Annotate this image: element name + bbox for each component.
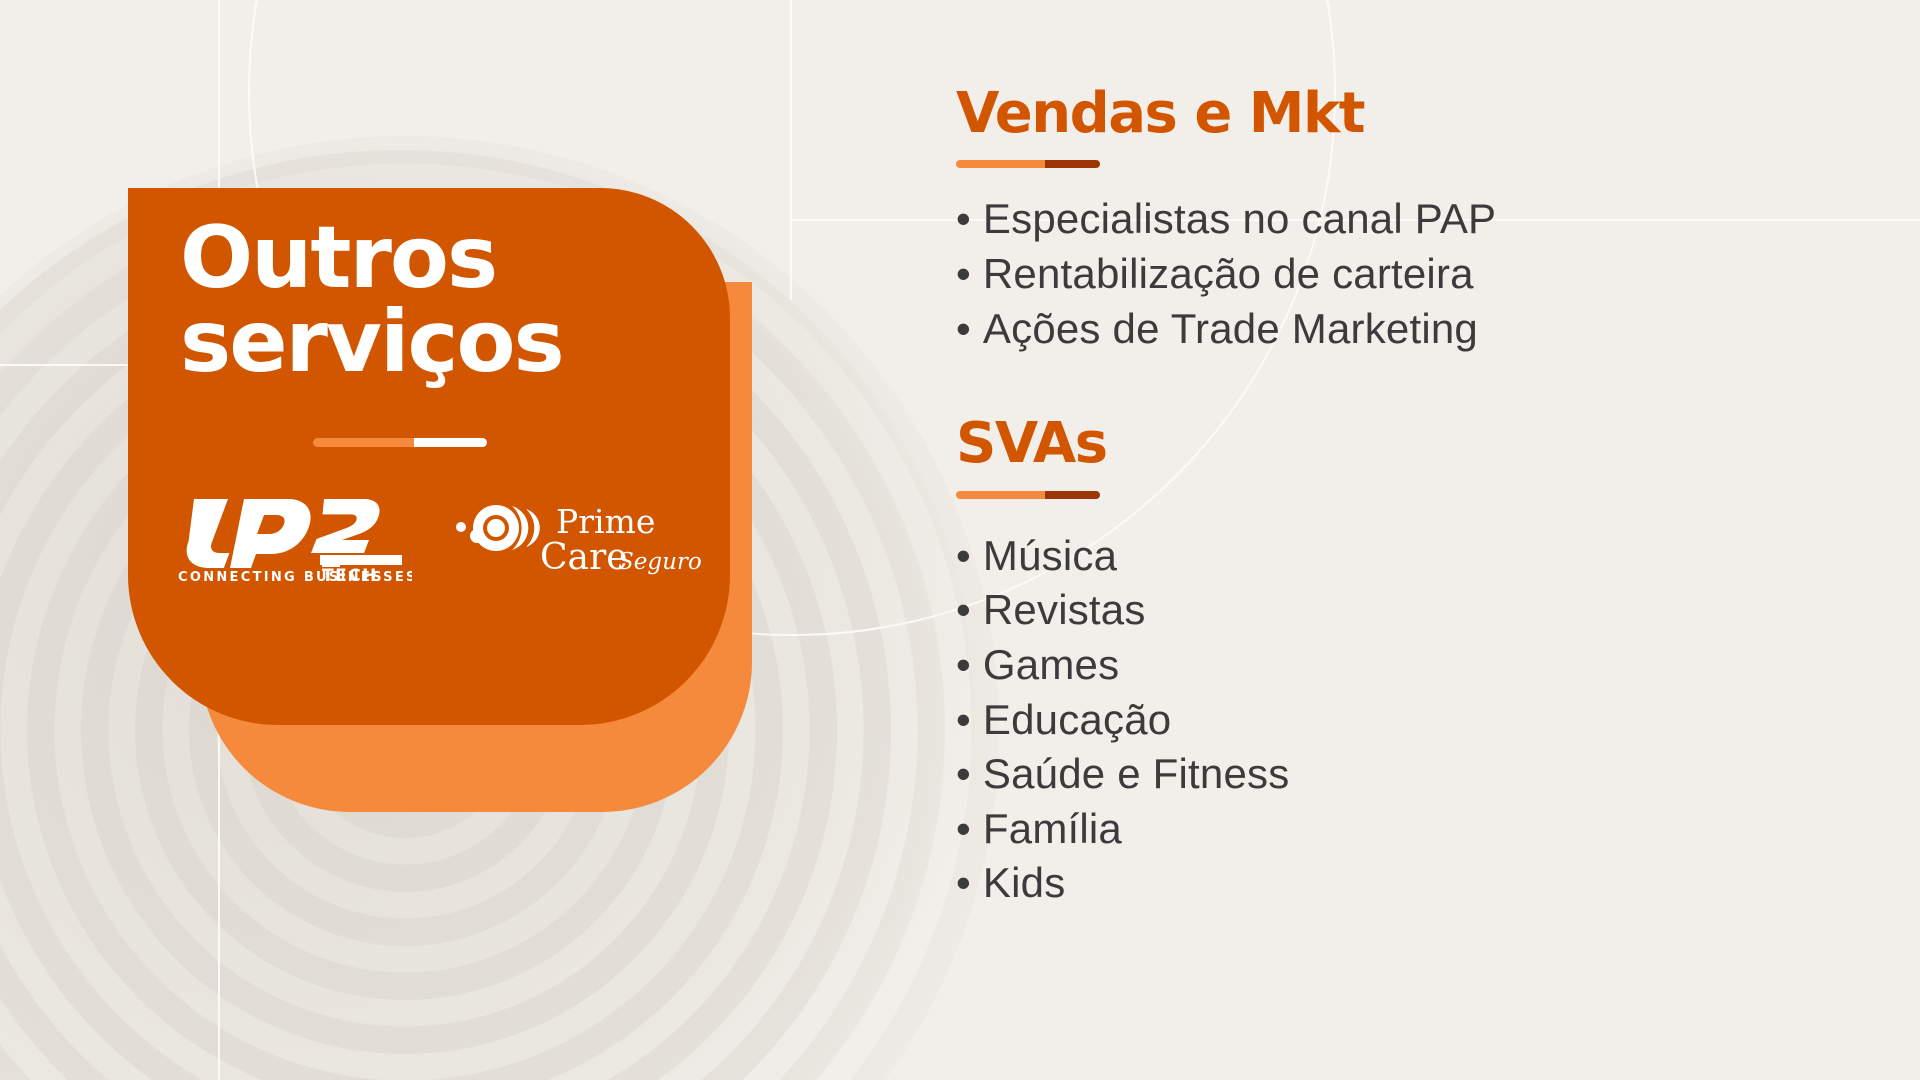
list-item-label: Saúde e Fitness bbox=[983, 750, 1290, 797]
list-item-label: Games bbox=[983, 641, 1119, 688]
list-item: •Ações de Trade Marketing bbox=[956, 302, 1836, 357]
services-card: Outros serviços TECH CONNECTING BUSINESS… bbox=[128, 188, 730, 725]
list-item-label: Música bbox=[983, 532, 1117, 579]
list-item-label: Família bbox=[983, 805, 1122, 852]
section-vendas: Vendas e Mkt •Especialistas no canal PAP… bbox=[956, 84, 1836, 356]
bullet-dot-icon: • bbox=[956, 638, 971, 693]
list-item: •Família bbox=[956, 802, 1836, 857]
card-title: Outros serviços bbox=[180, 216, 700, 385]
content-column: Vendas e Mkt •Especialistas no canal PAP… bbox=[956, 84, 1836, 923]
bullet-dot-icon: • bbox=[956, 302, 971, 357]
list-item: •Saúde e Fitness bbox=[956, 747, 1836, 802]
bullet-dot-icon: • bbox=[956, 747, 971, 802]
rule-segment-light bbox=[956, 491, 1045, 499]
list-item: •Kids bbox=[956, 856, 1836, 911]
list-item-label: Kids bbox=[983, 859, 1066, 906]
card-title-divider bbox=[313, 438, 487, 447]
section-rule-svas bbox=[956, 491, 1100, 499]
bullet-dot-icon: • bbox=[956, 693, 971, 748]
svg-text:CONNECTING BUSINESSES: CONNECTING BUSINESSES bbox=[178, 570, 412, 583]
list-item-label: Educação bbox=[983, 696, 1171, 743]
list-item-label: Rentabilização de carteira bbox=[983, 250, 1474, 297]
svg-text:Prime: Prime bbox=[556, 502, 655, 541]
slide-canvas: Outros serviços TECH CONNECTING BUSINESS… bbox=[0, 0, 1920, 1080]
rule-segment-light bbox=[956, 160, 1045, 168]
list-item-label: Revistas bbox=[983, 586, 1146, 633]
bullet-dot-icon: • bbox=[956, 529, 971, 584]
bullet-list-svas: •Música •Revistas •Games •Educação •Saúd… bbox=[956, 529, 1836, 911]
primecare-logo: Prime Care Seguros bbox=[452, 495, 702, 581]
list-item: •Rentabilização de carteira bbox=[956, 247, 1836, 302]
bullet-dot-icon: • bbox=[956, 192, 971, 247]
section-heading-svas: SVAs bbox=[956, 414, 1836, 474]
list-item: •Especialistas no canal PAP bbox=[956, 192, 1836, 247]
bullet-dot-icon: • bbox=[956, 583, 971, 638]
svg-text:Seguros: Seguros bbox=[618, 549, 702, 575]
rule-segment-dark bbox=[1045, 160, 1100, 168]
bullet-dot-icon: • bbox=[956, 802, 971, 857]
bullet-list-vendas: •Especialistas no canal PAP •Rentabiliza… bbox=[956, 192, 1836, 356]
divider-segment-white bbox=[414, 438, 487, 447]
list-item: •Música bbox=[956, 529, 1836, 584]
list-item-label: Especialistas no canal PAP bbox=[983, 195, 1496, 242]
section-svas: SVAs •Música •Revistas •Games •Educação bbox=[956, 414, 1836, 911]
bullet-dot-icon: • bbox=[956, 247, 971, 302]
background-vertical-line-center bbox=[790, 0, 792, 300]
list-item: •Educação bbox=[956, 693, 1836, 748]
up2tech-logo: TECH CONNECTING BUSINESSES bbox=[172, 493, 412, 583]
list-item: •Games bbox=[956, 638, 1836, 693]
svg-text:Care: Care bbox=[540, 537, 628, 578]
section-rule-vendas bbox=[956, 160, 1100, 168]
list-item: •Revistas bbox=[956, 583, 1836, 638]
list-item-label: Ações de Trade Marketing bbox=[983, 305, 1478, 352]
bullet-dot-icon: • bbox=[956, 856, 971, 911]
partner-logo-row: TECH CONNECTING BUSINESSES Prime Care Se… bbox=[172, 483, 702, 593]
section-heading-vendas: Vendas e Mkt bbox=[956, 84, 1836, 144]
divider-segment-light bbox=[313, 438, 414, 447]
rule-segment-dark bbox=[1045, 491, 1100, 499]
